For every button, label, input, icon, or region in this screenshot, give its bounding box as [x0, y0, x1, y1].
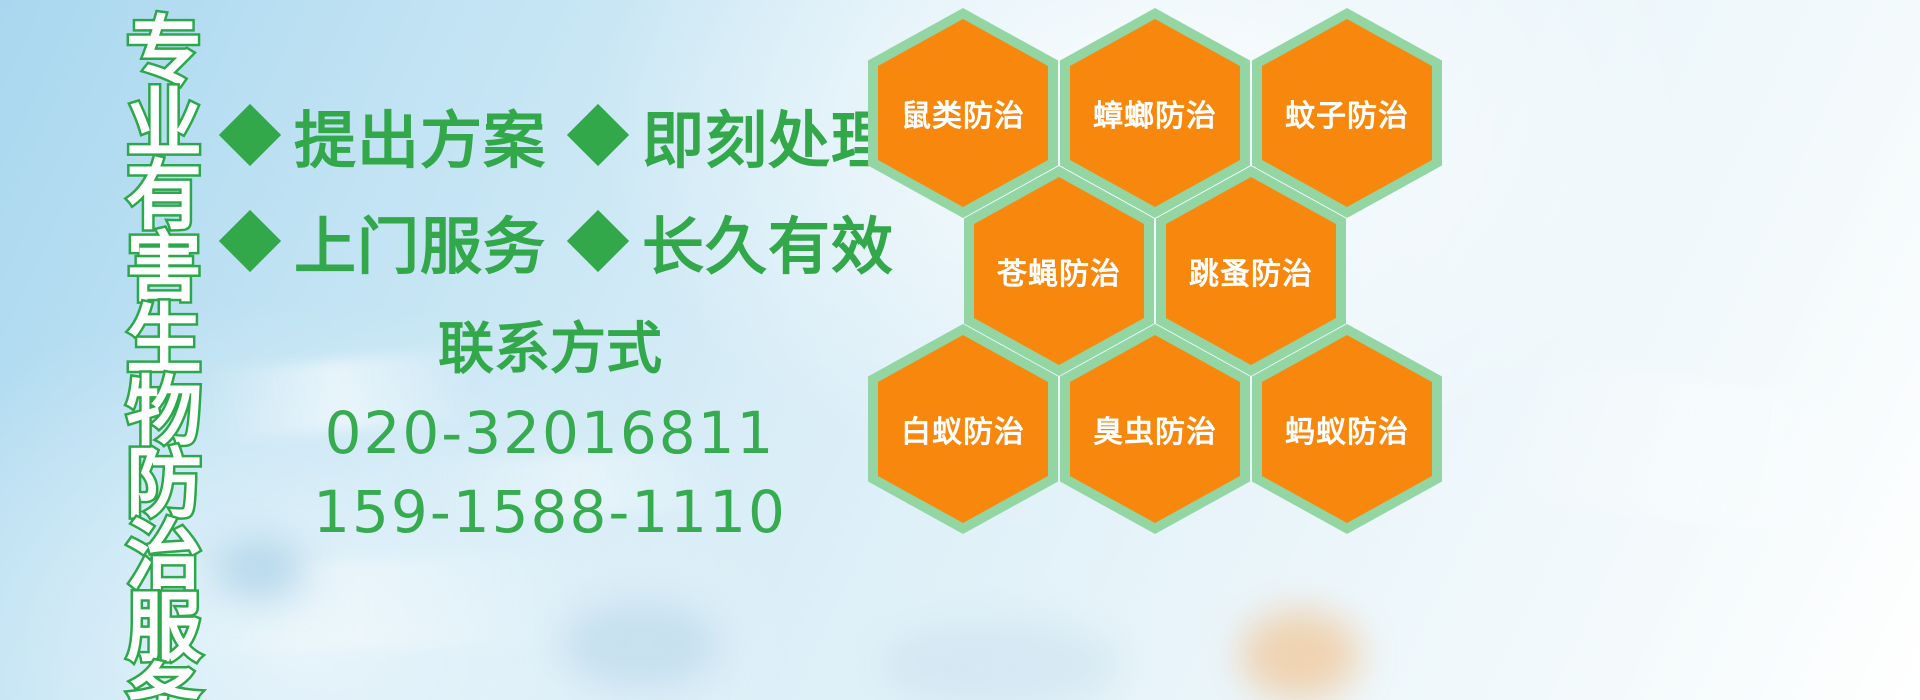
background-blur-blob	[880, 620, 1120, 700]
promo-banner: 专 业 有 害 生 物 防 治 服 务 提出方案 即刻处理 上门服务	[0, 0, 1920, 700]
hex-cell-ant-control[interactable]: 蚂蚁防治	[1252, 324, 1442, 534]
hex-cell-termite-control[interactable]: 白蚁防治	[868, 324, 1058, 534]
contact-phone-mobile[interactable]: 159-1588-1110	[300, 473, 800, 551]
contact-block: 联系方式 020-32016811 159-1588-1110	[300, 318, 800, 551]
feature-list: 提出方案 即刻处理 上门服务 长久有效	[228, 82, 868, 294]
hex-label: 蚂蚁防治	[1285, 407, 1409, 451]
background-blur-blob	[560, 600, 720, 690]
feature-row: 上门服务 长久有效	[228, 188, 868, 294]
contact-phone-landline[interactable]: 020-32016811	[300, 394, 800, 472]
hex-label: 白蚁防治	[901, 407, 1025, 451]
feature-item-long-lasting: 长久有效	[576, 196, 894, 286]
feature-item-propose-plan: 提出方案	[228, 90, 546, 180]
diamond-icon	[219, 104, 281, 166]
feature-item-door-to-door: 上门服务	[228, 196, 546, 286]
hex-label: 苍蝇防治	[997, 249, 1121, 293]
hex-label: 臭虫防治	[1093, 407, 1217, 451]
feature-label: 长久有效	[642, 196, 894, 286]
hex-label: 跳蚤防治	[1189, 249, 1313, 293]
hex-label: 蚊子防治	[1285, 91, 1409, 135]
feature-label: 提出方案	[294, 90, 546, 180]
diamond-icon	[567, 104, 629, 166]
diamond-icon	[567, 210, 629, 272]
hex-cell-bedbug-control[interactable]: 臭虫防治	[1060, 324, 1250, 534]
vertical-title-char: 务	[126, 662, 202, 700]
background-blur-blob	[215, 540, 305, 600]
vertical-title: 专 业 有 害 生 物 防 治 服 务	[106, 14, 222, 574]
hex-label: 鼠类防治	[901, 91, 1025, 135]
background-blur-blob	[1240, 610, 1360, 700]
feature-label: 即刻处理	[642, 90, 894, 180]
diamond-icon	[219, 210, 281, 272]
contact-heading: 联系方式	[300, 318, 800, 382]
background-light-streak	[1492, 354, 1888, 546]
service-honeycomb: 鼠类防治 蟑螂防治 蚊子防治 苍蝇防治 跳蚤防治 白蚁防治	[862, 0, 1462, 560]
hex-label: 蟑螂防治	[1093, 91, 1217, 135]
feature-item-immediate-handling: 即刻处理	[576, 90, 894, 180]
feature-label: 上门服务	[294, 196, 546, 286]
feature-row: 提出方案 即刻处理	[228, 82, 868, 188]
